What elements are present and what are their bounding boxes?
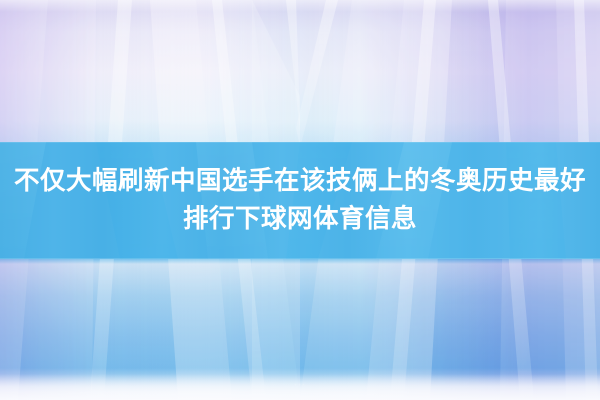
headline: 不仅大幅刷新中国选手在该技俩上的冬奥历史最好 排行下球网体育信息: [0, 142, 600, 259]
headline-band: 不仅大幅刷新中国选手在该技俩上的冬奥历史最好 排行下球网体育信息: [0, 142, 600, 259]
bottom-fade-strip: [0, 374, 600, 400]
top-sheen: [0, 0, 600, 12]
headline-line-1: 不仅大幅刷新中国选手在该技俩上的冬奥历史最好: [14, 165, 586, 199]
headline-line-2: 排行下球网体育信息: [183, 203, 417, 237]
banner: 不仅大幅刷新中国选手在该技俩上的冬奥历史最好 排行下球网体育信息 ···: [0, 0, 600, 400]
